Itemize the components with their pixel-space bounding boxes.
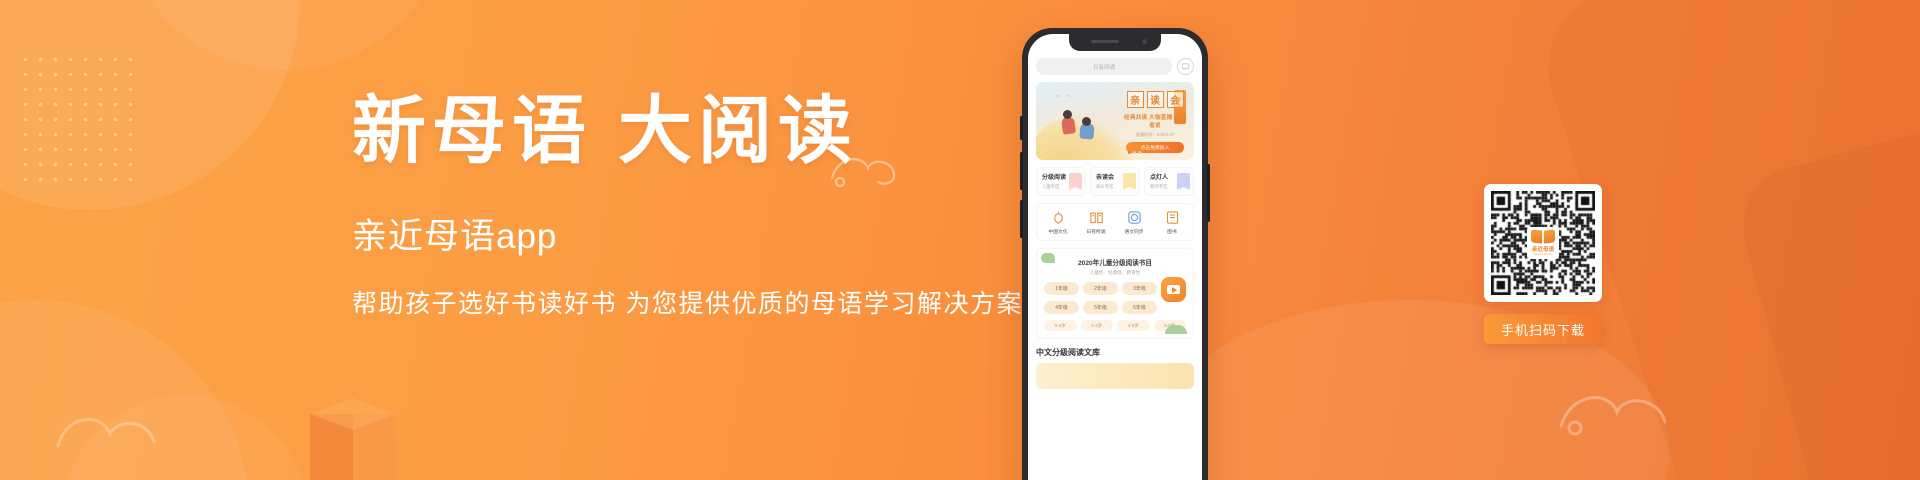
quick-icon-row: 中国文化 日有所诵: [1036, 203, 1194, 241]
quick-icon-textbook-sync[interactable]: 语文同步: [1115, 210, 1153, 235]
open-book-icon: [1089, 210, 1104, 225]
grade-tag[interactable]: 2年级: [1083, 282, 1118, 295]
booklist-title: 2020年儿童分级阅读书目: [1044, 257, 1186, 267]
compass-icon: [1127, 210, 1142, 225]
phone-screen: 日有所诵 ~ ~ 限时免费 亲: [1028, 34, 1202, 480]
qr-block: 亲近母语 QINJIN MUYU 手机扫码下载: [1484, 184, 1602, 344]
tagline: 帮助孩子选好书读好书 为您提供优质的母语学习解决方案: [352, 286, 1032, 322]
decor-dot-grid: [18, 52, 138, 192]
decor-circle-bottom-left-2: [60, 395, 310, 480]
promo-banner: 新母语大阅读 亲近母语app 帮助孩子选好书读好书 为您提供优质的母语学习解决方…: [0, 0, 1920, 480]
cloud-curl-icon-2: [1555, 382, 1675, 438]
decor-circle-top-left: [0, 0, 300, 210]
app-name: 亲近母语app: [352, 214, 1032, 260]
age-tag[interactable]: 4-5岁: [1117, 320, 1150, 331]
grade-tag[interactable]: 3年级: [1122, 282, 1157, 295]
headline-part-2: 大阅读: [618, 91, 858, 173]
page-title: 新母语大阅读: [352, 86, 1032, 178]
qr-logo-en: QINJIN MUYU: [1533, 253, 1552, 256]
play-video-button[interactable]: [1161, 277, 1186, 302]
age-tag-row: 0-3岁 3-4岁 4-5岁 5-6岁: [1044, 320, 1186, 331]
quick-icon-books[interactable]: 图书: [1153, 210, 1191, 235]
carousel-dots[interactable]: [1128, 151, 1141, 154]
quick-icon-chinese-culture[interactable]: 中国文化: [1039, 210, 1077, 235]
hero-time: 直播时间：9.16-9.27: [1122, 132, 1188, 138]
qr-center-logo: 亲近母语 QINJIN MUYU: [1527, 227, 1559, 259]
grade-tag[interactable]: 5年级: [1083, 301, 1118, 314]
grade-tag[interactable]: 4年级: [1044, 301, 1079, 314]
age-tag[interactable]: 3-4岁: [1081, 320, 1114, 331]
decor-circle-top-left-2: [120, 0, 450, 70]
hero-char-3: 会: [1167, 91, 1184, 108]
leaf-decor-icon: [1041, 253, 1055, 263]
copy-block: 新母语大阅读 亲近母语app 帮助孩子选好书读好书 为您提供优质的母语学习解决方…: [352, 86, 1032, 322]
age-tag[interactable]: 0-3岁: [1044, 320, 1077, 331]
phone-notch: [1069, 34, 1161, 51]
grade-tag-row-2: 4年级 5年级 6年级: [1044, 301, 1186, 314]
leaf-decor-icon-2: [1165, 325, 1187, 334]
phone-mockup: 日有所诵 ~ ~ 限时免费 亲: [1022, 28, 1208, 480]
qr-code[interactable]: 亲近母语 QINJIN MUYU: [1484, 184, 1602, 302]
hero-char-2: 读: [1147, 91, 1164, 108]
grade-tag[interactable]: 1年级: [1044, 282, 1079, 295]
category-card-parent-club[interactable]: 亲读会 家长专区: [1090, 167, 1140, 196]
library-title: 中文分级阅读文库: [1036, 347, 1194, 358]
cloud-curl-icon-3: [52, 404, 162, 458]
decor-cube: [310, 398, 396, 480]
book-icon: [1165, 210, 1180, 225]
booklist-section: 2020年儿童分级阅读书目 儿童性、经典性、教育性 1年级 2年级 3年级 4年…: [1036, 248, 1194, 339]
message-icon[interactable]: [1177, 58, 1194, 75]
quick-icon-label: 日有所诵: [1077, 228, 1115, 235]
download-button[interactable]: 手机扫码下载: [1484, 314, 1602, 344]
quick-icon-label: 中国文化: [1039, 228, 1077, 235]
quick-icon-label: 语文同步: [1115, 228, 1153, 235]
category-cards: 分级阅读 儿童专区 亲读会 家长专区 点灯人 教师专区: [1036, 167, 1194, 196]
category-card-graded-reading[interactable]: 分级阅读 儿童专区: [1036, 167, 1086, 196]
hero-subtitle: 经典共读 大咖直播 亲读者说: [1122, 113, 1188, 129]
quick-icon-label: 图书: [1153, 228, 1191, 235]
booklist-subtitle: 儿童性、经典性、教育性: [1044, 270, 1186, 276]
library-card[interactable]: [1036, 363, 1194, 389]
hero-title: 亲 读 会: [1122, 91, 1188, 108]
quick-icon-daily-recite[interactable]: 日有所诵: [1077, 210, 1115, 235]
hero-char-1: 亲: [1127, 91, 1144, 108]
headline-part-1: 新母语: [352, 91, 592, 173]
category-card-teacher[interactable]: 点灯人 教师专区: [1144, 167, 1194, 196]
lantern-icon: [1051, 210, 1066, 225]
decor-stripe-right-2: [1730, 75, 1920, 480]
qr-logo-name: 亲近母语: [1532, 245, 1554, 253]
hero-banner[interactable]: ~ ~ 限时免费 亲 读 会 经典共读 大咖直播 亲读者说 直播时间：9.16-…: [1036, 82, 1194, 160]
decor-circle-bottom-left: [0, 300, 250, 480]
search-row: 日有所诵: [1036, 58, 1194, 75]
grade-tag[interactable]: 6年级: [1122, 301, 1157, 314]
search-input[interactable]: 日有所诵: [1036, 58, 1172, 75]
